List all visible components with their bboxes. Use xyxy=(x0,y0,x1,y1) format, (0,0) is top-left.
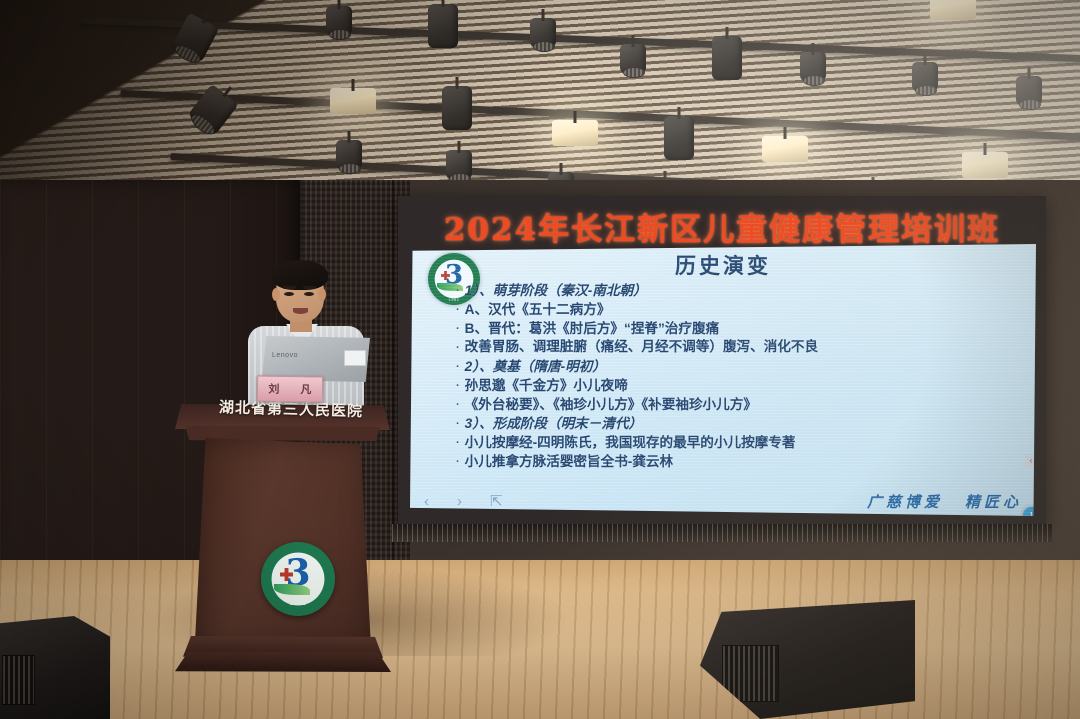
name-card-given: 凡 xyxy=(300,381,311,397)
list-item: ·小儿推拿方脉活婴密旨全书-龚云林 xyxy=(456,453,1022,471)
slogan-right-text: 精匠心 xyxy=(965,491,1022,512)
bullet-dot: · xyxy=(456,415,460,433)
list-item: ·小儿按摩经-四明陈氏，我国现存的最早的小儿按摩专著 xyxy=(456,434,1022,452)
ceiling-light-wash xyxy=(0,0,1080,196)
prev-slide-icon[interactable]: ‹ xyxy=(424,493,429,510)
led-presentation-screen[interactable]: 2024年长江新区儿童健康管理培训班 3 1951 历史演变 ·1）、萌芽阶段（… xyxy=(398,196,1046,526)
presenter-ear xyxy=(272,288,280,301)
collapse-panel-icon[interactable]: ‹ xyxy=(1025,454,1037,468)
bullet-text: A、汉代《五十二病方》 xyxy=(465,301,1022,319)
bullet-text: 孙思邈《千金方》小儿夜啼 xyxy=(465,377,1022,395)
hospital-emblem-icon: 3 1951 xyxy=(261,542,335,616)
notification-badge[interactable]: 1 xyxy=(1023,507,1040,524)
list-item: ·2）、奠基（隋唐-明初） xyxy=(456,358,1022,376)
bullet-dot: · xyxy=(456,396,460,414)
list-item: ·A、汉代《五十二病方》 xyxy=(456,301,1022,319)
leaf-icon xyxy=(274,584,310,595)
list-item: ·3）、形成阶段（明末－清代） xyxy=(456,415,1022,433)
podium-base xyxy=(175,652,391,672)
list-item: ·《外台秘要》、《袖珍小儿方》《补要袖珍小儿方》 xyxy=(456,396,1022,414)
ceiling-slats xyxy=(0,0,1080,196)
bullet-dot: · xyxy=(456,320,460,338)
list-item: ·孙思邈《千金方》小儿夜啼 xyxy=(456,377,1022,395)
bullet-text: 3）、形成阶段（明末－清代） xyxy=(465,415,1022,433)
podium-body: 3 1951 xyxy=(195,438,371,648)
presenter-mouth xyxy=(293,308,308,314)
bullet-dot: · xyxy=(456,301,460,319)
screen-base-trim xyxy=(392,524,1052,542)
slogan-left-text: 广慈博爱 xyxy=(867,491,943,512)
podium: 3 1951 湖北省第三人民医院 刘 凡 xyxy=(175,404,390,690)
speaker-grille xyxy=(2,655,35,704)
bullet-text: 小儿推拿方脉活婴密旨全书-龚云林 xyxy=(465,453,1022,471)
share-icon[interactable]: ⇱ xyxy=(490,492,503,510)
bullet-text: 小儿按摩经-四明陈氏，我国现存的最早的小儿按摩专著 xyxy=(465,434,1022,452)
conference-hall-photo: 2024年长江新区儿童健康管理培训班 3 1951 历史演变 ·1）、萌芽阶段（… xyxy=(0,0,1080,719)
laptop-sticker xyxy=(344,350,366,366)
laptop-brand-label: Lenovo xyxy=(272,352,298,359)
bullet-dot: · xyxy=(456,282,460,300)
bullet-dot: · xyxy=(456,358,460,376)
name-card-surname: 刘 xyxy=(268,381,279,397)
floor-monitor-speaker xyxy=(0,616,110,719)
bullet-text: 改善胃肠、调理脏腑（痛经、月经不调等）腹泻、消化不良 xyxy=(465,339,1022,356)
list-item: ·B、晋代：葛洪《肘后方》“捏脊”治疗腹痛 xyxy=(456,320,1022,338)
presentation-slide[interactable]: 3 1951 历史演变 ·1）、萌芽阶段（秦汉-南北朝） ·A、汉代《五十二病方… xyxy=(410,244,1036,516)
presenter-eye xyxy=(304,292,314,296)
bullet-text: 2）、奠基（隋唐-明初） xyxy=(465,358,1022,376)
bullet-text: 1）、萌芽阶段（秦汉-南北朝） xyxy=(465,282,1022,300)
speaker-name-card: 刘 凡 xyxy=(257,375,323,402)
slide-navigation-controls[interactable]: ‹ › ⇱ xyxy=(424,492,503,510)
emblem-year: 1951 xyxy=(261,601,335,607)
presenter-hair xyxy=(272,260,328,290)
presenter-eyebrow xyxy=(303,286,316,289)
list-item: ·1）、萌芽阶段（秦汉-南北朝） xyxy=(456,282,1022,300)
presenter-eyebrow xyxy=(283,286,296,289)
next-slide-icon[interactable]: › xyxy=(457,493,462,510)
presenter-ear xyxy=(318,288,326,301)
presenter-eye xyxy=(284,292,294,296)
bullet-text: 《外台秘要》、《袖珍小儿方》《补要袖珍小儿方》 xyxy=(465,396,1022,414)
list-item: ·改善胃肠、调理脏腑（痛经、月经不调等）腹泻、消化不良 xyxy=(456,339,1022,357)
bullet-dot: · xyxy=(456,377,460,395)
slide-bullet-list: ·1）、萌芽阶段（秦汉-南北朝） ·A、汉代《五十二病方》 ·B、晋代：葛洪《肘… xyxy=(456,282,1022,472)
bullet-text: B、晋代：葛洪《肘后方》“捏脊”治疗腹痛 xyxy=(465,320,1022,338)
bullet-dot: · xyxy=(456,339,460,357)
bullet-dot: · xyxy=(456,434,460,452)
event-banner-title: 2024年长江新区儿童健康管理培训班 xyxy=(398,204,1046,249)
bullet-dot: · xyxy=(456,453,460,471)
slide-heading: 历史演变 xyxy=(410,250,1036,280)
slide-slogan: 广慈博爱 精匠心 xyxy=(867,491,1022,512)
